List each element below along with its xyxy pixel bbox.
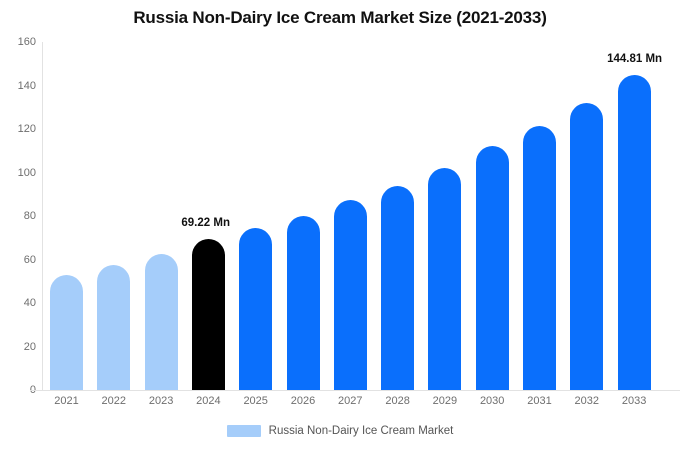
bar-2025[interactable] — [239, 42, 272, 390]
x-axis-line — [30, 390, 680, 391]
bar-rect[interactable] — [428, 168, 461, 390]
legend: Russia Non-Dairy Ice Cream Market — [0, 425, 680, 437]
bar-2021[interactable] — [50, 42, 83, 390]
bar-2024[interactable] — [192, 42, 225, 390]
legend-swatch — [227, 425, 261, 437]
x-axis-tick-label: 2033 — [604, 395, 664, 407]
bar-value-label-2024: 69.22 Mn — [181, 217, 230, 229]
bar-2030[interactable] — [476, 42, 509, 390]
bar-2029[interactable] — [428, 42, 461, 390]
bar-rect[interactable] — [287, 216, 320, 390]
legend-label: Russia Non-Dairy Ice Cream Market — [269, 425, 454, 437]
bar-2022[interactable] — [97, 42, 130, 390]
bar-2028[interactable] — [381, 42, 414, 390]
bar-value-label-2033: 144.81 Mn — [607, 53, 662, 65]
bar-rect[interactable] — [570, 103, 603, 390]
bar-rect[interactable] — [523, 126, 556, 390]
bar-rect[interactable] — [145, 254, 178, 390]
bar-2031[interactable] — [523, 42, 556, 390]
bar-rect[interactable] — [476, 146, 509, 390]
bar-rect[interactable] — [239, 228, 272, 390]
y-axis-tick-label: 140 — [2, 80, 36, 92]
bar-rect[interactable] — [50, 275, 83, 390]
y-axis-tick-label: 160 — [2, 36, 36, 48]
chart-container: Russia Non-Dairy Ice Cream Market Size (… — [0, 0, 680, 450]
bar-rect[interactable] — [618, 75, 651, 390]
y-axis-tick-label: 100 — [2, 167, 36, 179]
y-axis: 020406080100120140160 — [0, 0, 36, 450]
y-axis-tick-label: 80 — [2, 210, 36, 222]
y-axis-tick-label: 120 — [2, 123, 36, 135]
bar-rect[interactable] — [334, 200, 367, 390]
y-axis-tick-label: 40 — [2, 297, 36, 309]
bar-2027[interactable] — [334, 42, 367, 390]
y-axis-tick-label: 60 — [2, 254, 36, 266]
bar-2023[interactable] — [145, 42, 178, 390]
plot-area: 69.22 Mn144.81 Mn — [42, 42, 679, 390]
page-title: Russia Non-Dairy Ice Cream Market Size (… — [0, 8, 680, 28]
bar-2026[interactable] — [287, 42, 320, 390]
bar-2032[interactable] — [570, 42, 603, 390]
bar-2033[interactable] — [618, 42, 651, 390]
bar-rect[interactable] — [381, 186, 414, 390]
y-axis-tick-label: 20 — [2, 341, 36, 353]
bar-rect[interactable] — [192, 239, 225, 390]
bar-rect[interactable] — [97, 265, 130, 390]
